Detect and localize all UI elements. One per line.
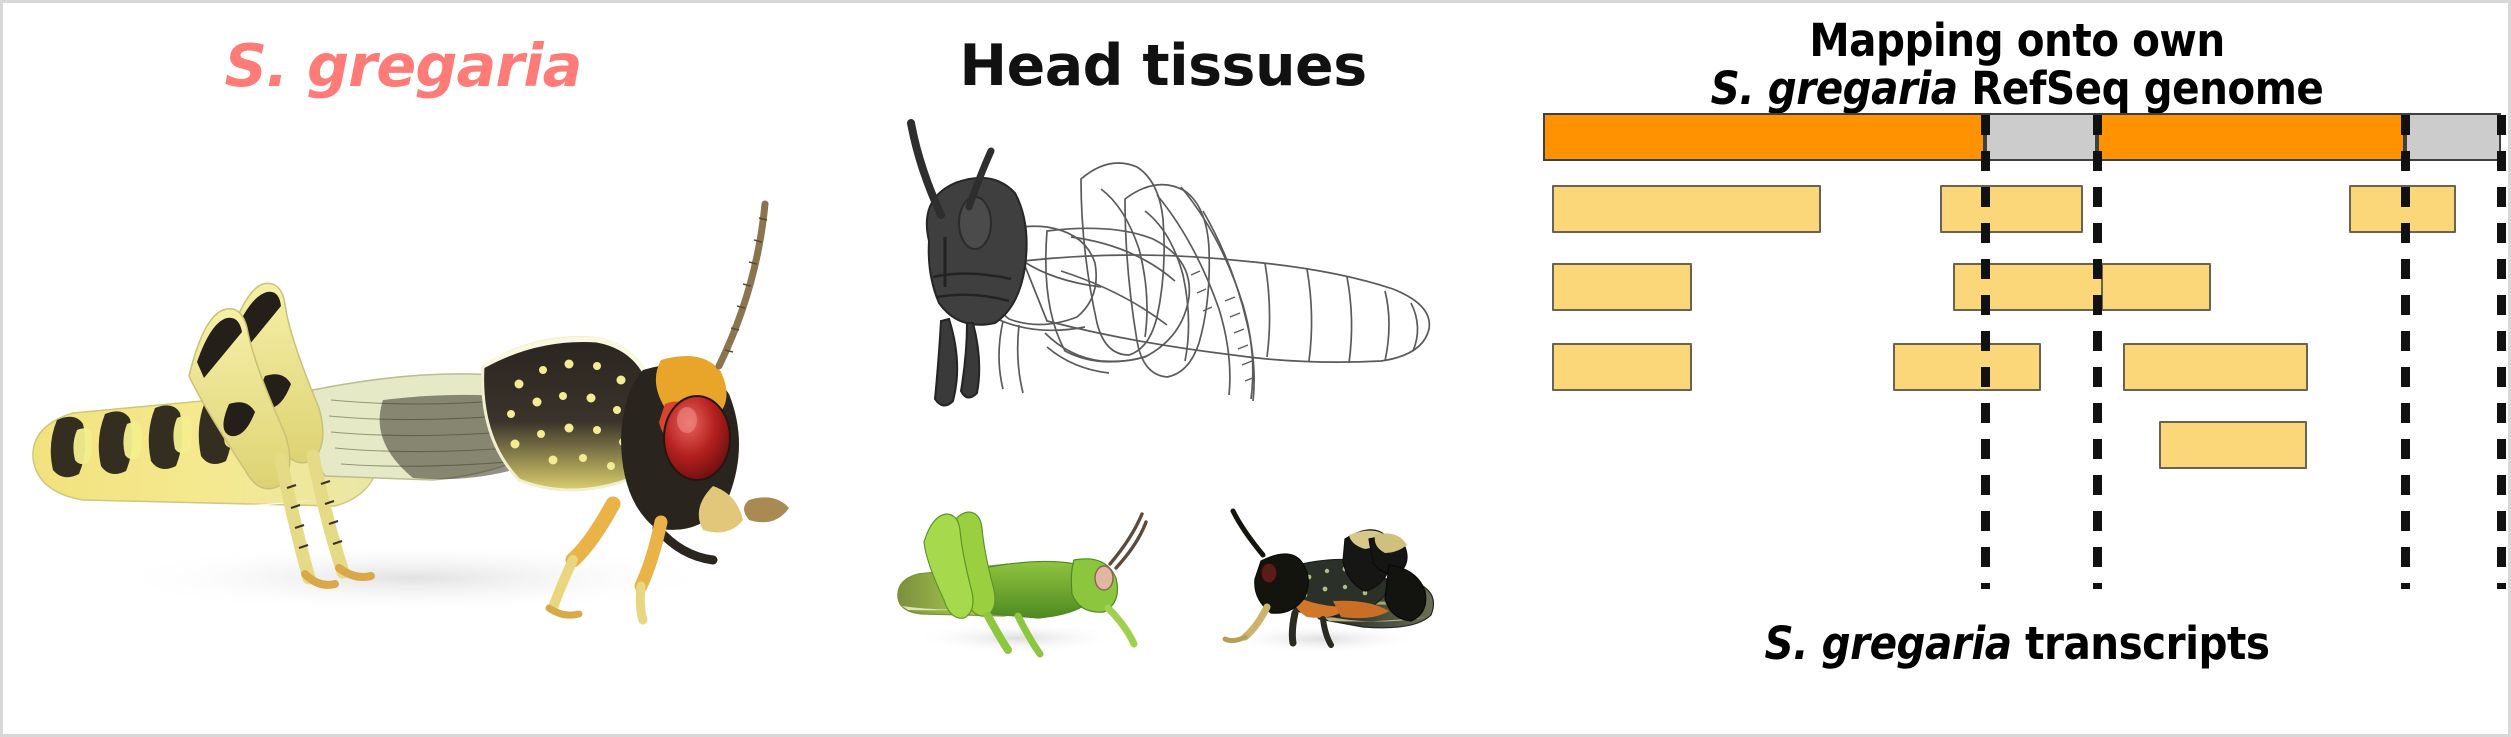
transcript-block-r2-1 xyxy=(1552,263,1692,311)
gregarious-black-orange-locust-photo xyxy=(1193,503,1443,658)
panel-mapping: Mapping onto own S. gregaria RefSeq geno… xyxy=(1523,3,2511,734)
locust-line-drawing-head-shaded xyxy=(833,111,1493,411)
desert-locust-photograph xyxy=(13,108,793,628)
transcript-block-r3-2 xyxy=(1893,343,2041,391)
specimen-title: S. gregaria xyxy=(3,31,803,100)
intron-boundary-guide-4 xyxy=(2497,115,2506,589)
genome-segment-intron-4 xyxy=(2405,113,2501,161)
genome-segment-exon-3 xyxy=(2097,113,2405,161)
transcript-block-r1-1 xyxy=(1552,185,1821,233)
panel-head-tissues: Head tissues xyxy=(803,3,1523,734)
intron-boundary-guide-1 xyxy=(1981,115,1990,589)
intron-boundary-guide-2 xyxy=(2093,115,2102,589)
figure-root: S. gregaria xyxy=(0,0,2511,737)
mapping-caption: S. gregaria transcripts xyxy=(1523,617,2511,670)
head-tissues-title: Head tissues xyxy=(803,33,1523,99)
solitarious-green-locust-photo xyxy=(888,498,1148,658)
transcript-block-r3-1 xyxy=(1552,343,1692,391)
panel-specimen: S. gregaria xyxy=(3,3,803,734)
transcript-block-r2-3 xyxy=(2101,263,2211,311)
intron-boundary-guide-3 xyxy=(2401,115,2410,589)
mapping-caption-species: S. gregaria xyxy=(1765,617,2012,670)
genome-segment-exon-1 xyxy=(1543,113,1985,161)
transcript-block-r4-1 xyxy=(2159,421,2307,469)
mapping-caption-rest: transcripts xyxy=(2025,617,2269,670)
genome-segment-intron-2 xyxy=(1985,113,2097,161)
transcript-block-r1-2 xyxy=(1940,185,2083,233)
transcript-block-r3-3 xyxy=(2123,343,2308,391)
